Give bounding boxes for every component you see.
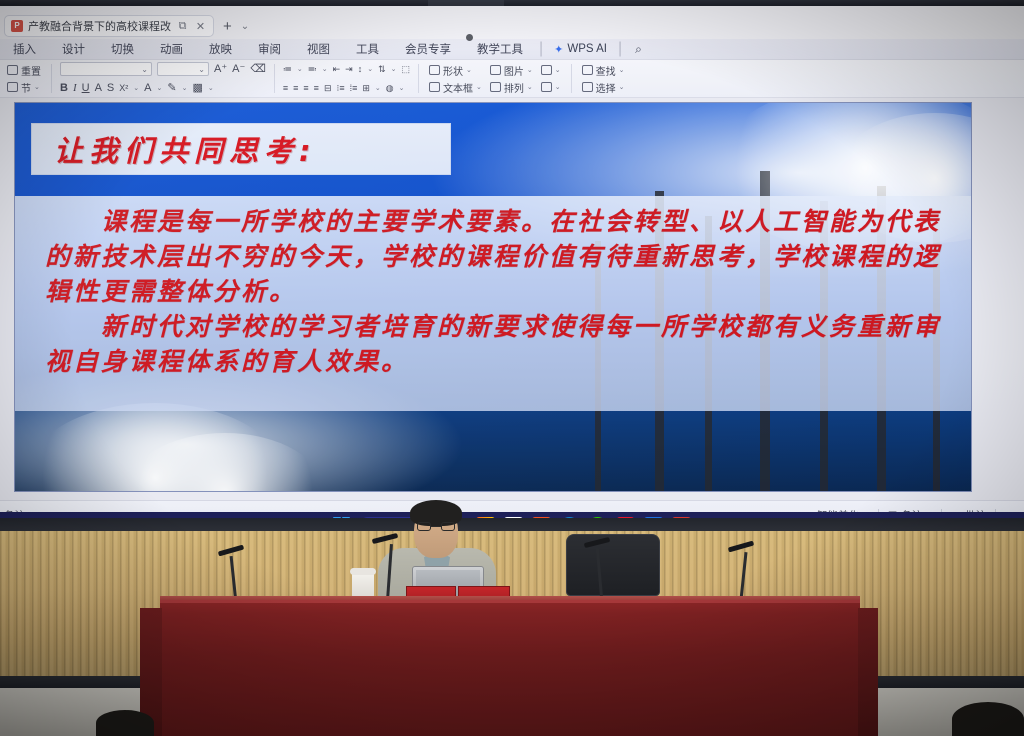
char-shading-icon[interactable]: ▩	[192, 83, 202, 94]
ribbon-toolbar: 重置 节 ⌄ ⌄ ⌄ A⁺ A⁻ ⌫	[0, 60, 1024, 98]
menu-item-design[interactable]: 设计	[49, 41, 98, 57]
italic-button[interactable]: I	[73, 83, 77, 94]
align-center-button[interactable]: ≡	[293, 84, 298, 93]
wps-ai-button[interactable]: ✦ WPS AI	[546, 43, 615, 56]
chevron-down-icon: ⌄	[555, 66, 561, 74]
select-label: 选择	[596, 80, 616, 95]
shape-fill-button[interactable]: ⌄	[539, 63, 563, 78]
decrease-indent-button[interactable]: ⇤	[333, 65, 341, 74]
chevron-down-icon[interactable]: ⌄	[399, 84, 405, 92]
chevron-down-icon[interactable]: ⌄	[208, 84, 214, 92]
slide-title-banner: 让我们共同思考:	[31, 123, 451, 175]
font-size-select[interactable]: ⌄	[157, 62, 209, 76]
shape-fill-icon	[541, 65, 552, 75]
conference-room-photo: P 产教融合背景下的高校课程改 ⧉ ✕ + ⌄ 插入 设计 切换 动画 放映 审…	[0, 0, 1024, 736]
chevron-down-icon: ⌄	[34, 83, 40, 91]
distribute-button[interactable]: ⊟	[324, 84, 332, 93]
arrange-icon	[490, 82, 501, 92]
font-family-select[interactable]: ⌄	[60, 62, 152, 76]
chevron-down-icon[interactable]: ⌄	[156, 84, 162, 92]
text-direction-button[interactable]: ⇅	[378, 65, 386, 74]
speaker-glasses	[417, 522, 455, 531]
chevron-down-icon[interactable]: ⌄	[391, 65, 397, 73]
sparkle-icon: ✦	[554, 43, 563, 56]
chevron-down-icon: ⌄	[466, 66, 472, 74]
convert-smartart-button[interactable]: ⊞	[362, 84, 370, 93]
strikethrough-button[interactable]: S	[107, 83, 114, 94]
picture-label: 图片	[504, 63, 524, 78]
slide-paragraph-2: 新时代对学校的学习者培育的新要求使得每一所学校都有义务重新审视自身课程体系的育人…	[45, 309, 943, 379]
textbox-label: 文本框	[443, 80, 473, 95]
chevron-down-icon[interactable]: ⌄	[182, 84, 188, 92]
align-text-button[interactable]: ⁞≡	[350, 84, 358, 93]
chevron-down-icon: ⌄	[619, 83, 625, 91]
restore-icon[interactable]: ⧉	[176, 20, 189, 33]
chevron-down-icon[interactable]: ⌄	[297, 65, 303, 73]
reset-slide-label: 重置	[21, 63, 41, 78]
arrange-button[interactable]: 排列 ⌄	[488, 80, 535, 95]
chevron-down-icon[interactable]: ⌄	[322, 65, 328, 73]
chevron-down-icon[interactable]: ⌄	[133, 84, 139, 92]
arrange-label: 排列	[504, 80, 524, 95]
underline-button[interactable]: U	[82, 83, 90, 94]
ribbon-group-insert: 形状 ⌄ 文本框 ⌄ 图片 ⌄	[422, 60, 568, 97]
slide-body-text: 课程是每一所学校的主要学术要素。在社会转型、以人工智能为代表的新技术层出不穷的今…	[15, 196, 972, 411]
text-highlight-icon[interactable]: ✎	[167, 83, 176, 94]
chevron-down-icon[interactable]: ⌄	[241, 21, 249, 32]
wps-ai-label: WPS AI	[567, 43, 607, 55]
shape-label: 形状	[443, 63, 463, 78]
textbox-icon	[429, 82, 440, 92]
ribbon-divider-4	[571, 64, 572, 93]
increase-indent-button[interactable]: ⇥	[345, 65, 353, 74]
section-button[interactable]: 节 ⌄	[5, 80, 43, 95]
wall-top-trim	[0, 518, 1024, 532]
teacup-lid	[350, 568, 376, 575]
podium-side-right	[858, 608, 878, 736]
chevron-down-icon: ⌄	[555, 83, 561, 91]
columns-button[interactable]: ⁝≡	[336, 84, 344, 93]
chevron-down-icon: ⌄	[527, 83, 533, 91]
menu-divider-2: |	[615, 40, 625, 58]
align-right-button[interactable]: ≡	[303, 84, 308, 93]
ribbon-divider-2	[274, 64, 275, 93]
ribbon-divider-3	[418, 64, 419, 93]
find-label: 查找	[596, 63, 616, 78]
reset-slide-icon	[7, 65, 18, 75]
menu-item-transition[interactable]: 切换	[98, 41, 147, 57]
shape-icon	[429, 65, 440, 75]
numbered-list-button[interactable]: ≔	[283, 65, 292, 74]
search-icon[interactable]: ⌕	[625, 42, 652, 57]
section-icon	[7, 82, 18, 92]
menu-item-animation[interactable]: 动画	[147, 41, 196, 57]
slide-paragraph-1: 课程是每一所学校的主要学术要素。在社会转型、以人工智能为代表的新技术层出不穷的今…	[45, 204, 943, 309]
document-tab-label: 产教融合背景下的高校课程改	[28, 18, 171, 34]
chevron-down-icon: ⌄	[527, 66, 533, 74]
wps-presentation-icon: P	[11, 20, 23, 32]
slide-content[interactable]: 让我们共同思考: 课程是每一所学校的主要学术要素。在社会转型、以人工智能为代表的…	[14, 102, 972, 492]
menu-item-review[interactable]: 审阅	[245, 41, 294, 57]
audience-head-left	[96, 710, 154, 736]
menu-item-tools[interactable]: 工具	[343, 41, 392, 57]
ribbon-group-slide: 重置 节 ⌄	[0, 60, 48, 97]
slide-canvas-area: 让我们共同思考: 课程是每一所学校的主要学术要素。在社会转型、以人工智能为代表的…	[0, 98, 1024, 500]
text-effects-button[interactable]: ◍	[386, 84, 394, 93]
slide-title: 让我们共同思考:	[54, 128, 317, 170]
menu-divider: |	[536, 40, 546, 58]
grow-font-button[interactable]: A⁺	[214, 64, 227, 75]
ribbon-group-editing: 查找 ⌄ 选择 ⌄	[575, 60, 632, 97]
shape-button[interactable]: 形状 ⌄	[427, 63, 484, 78]
search-icon	[582, 65, 593, 75]
chevron-down-icon: ⌄	[619, 66, 625, 74]
line-spacing-button[interactable]: ↕	[358, 65, 363, 74]
shape-outline-icon	[541, 82, 552, 92]
bold-button[interactable]: B	[60, 83, 68, 94]
new-tab-button[interactable]: +	[223, 18, 232, 35]
bulleted-list-button[interactable]: ≕	[308, 65, 317, 74]
chevron-down-icon: ⌄	[476, 83, 482, 91]
justify-button[interactable]: ≡	[314, 84, 319, 93]
chevron-down-icon[interactable]: ⌄	[375, 84, 381, 92]
select-icon	[582, 82, 593, 92]
podium	[160, 600, 860, 736]
audience-head-right	[952, 702, 1024, 736]
ribbon-group-font: ⌄ ⌄ A⁺ A⁻ ⌫ B I U A S X² ⌄ A	[55, 60, 271, 97]
align-left-button[interactable]: ≡	[283, 84, 288, 93]
picture-icon	[490, 65, 501, 75]
clear-format-icon[interactable]: ⌫	[250, 64, 266, 75]
menu-item-insert[interactable]: 插入	[0, 41, 49, 57]
textbox-button[interactable]: 文本框 ⌄	[427, 80, 484, 95]
shrink-font-button[interactable]: A⁻	[232, 64, 245, 75]
tab-strip: P 产教融合背景下的高校课程改 ⧉ ✕ + ⌄	[0, 14, 1024, 38]
menu-item-member[interactable]: 会员专享	[392, 41, 464, 57]
select-button[interactable]: 选择 ⌄	[580, 80, 627, 95]
font-color-button[interactable]: A	[144, 83, 151, 94]
menu-item-view[interactable]: 视图	[294, 41, 343, 57]
empty-chair	[566, 534, 660, 596]
text-shadow-button[interactable]: A	[95, 83, 102, 94]
menu-item-slideshow[interactable]: 放映	[196, 41, 245, 57]
projection-screen: P 产教融合背景下的高校课程改 ⧉ ✕ + ⌄ 插入 设计 切换 动画 放映 审…	[0, 6, 1024, 530]
picture-button[interactable]: 图片 ⌄	[488, 63, 535, 78]
menu-item-teaching-tools[interactable]: 教学工具	[464, 41, 536, 57]
menu-bar: 插入 设计 切换 动画 放映 审阅 视图 工具 会员专享 教学工具 | ✦ WP…	[0, 39, 1024, 60]
find-button[interactable]: 查找 ⌄	[580, 63, 627, 78]
document-tab[interactable]: P 产教融合背景下的高校课程改 ⧉ ✕	[4, 15, 214, 37]
ribbon-divider-1	[51, 64, 52, 93]
shape-outline-button[interactable]: ⌄	[539, 80, 563, 95]
reset-slide-button[interactable]: 重置	[5, 63, 43, 78]
section-label: 节	[21, 80, 31, 95]
chevron-down-icon[interactable]: ⌄	[367, 65, 373, 73]
smartart-button[interactable]: ⬚	[402, 65, 411, 74]
superscript-button[interactable]: X²	[119, 84, 128, 93]
close-icon[interactable]: ✕	[194, 20, 207, 33]
ribbon-group-paragraph: ≔ ⌄ ≕ ⌄ ⇤ ⇥ ↕ ⌄ ⇅ ⌄ ⬚ ≡ ≡	[278, 60, 415, 97]
